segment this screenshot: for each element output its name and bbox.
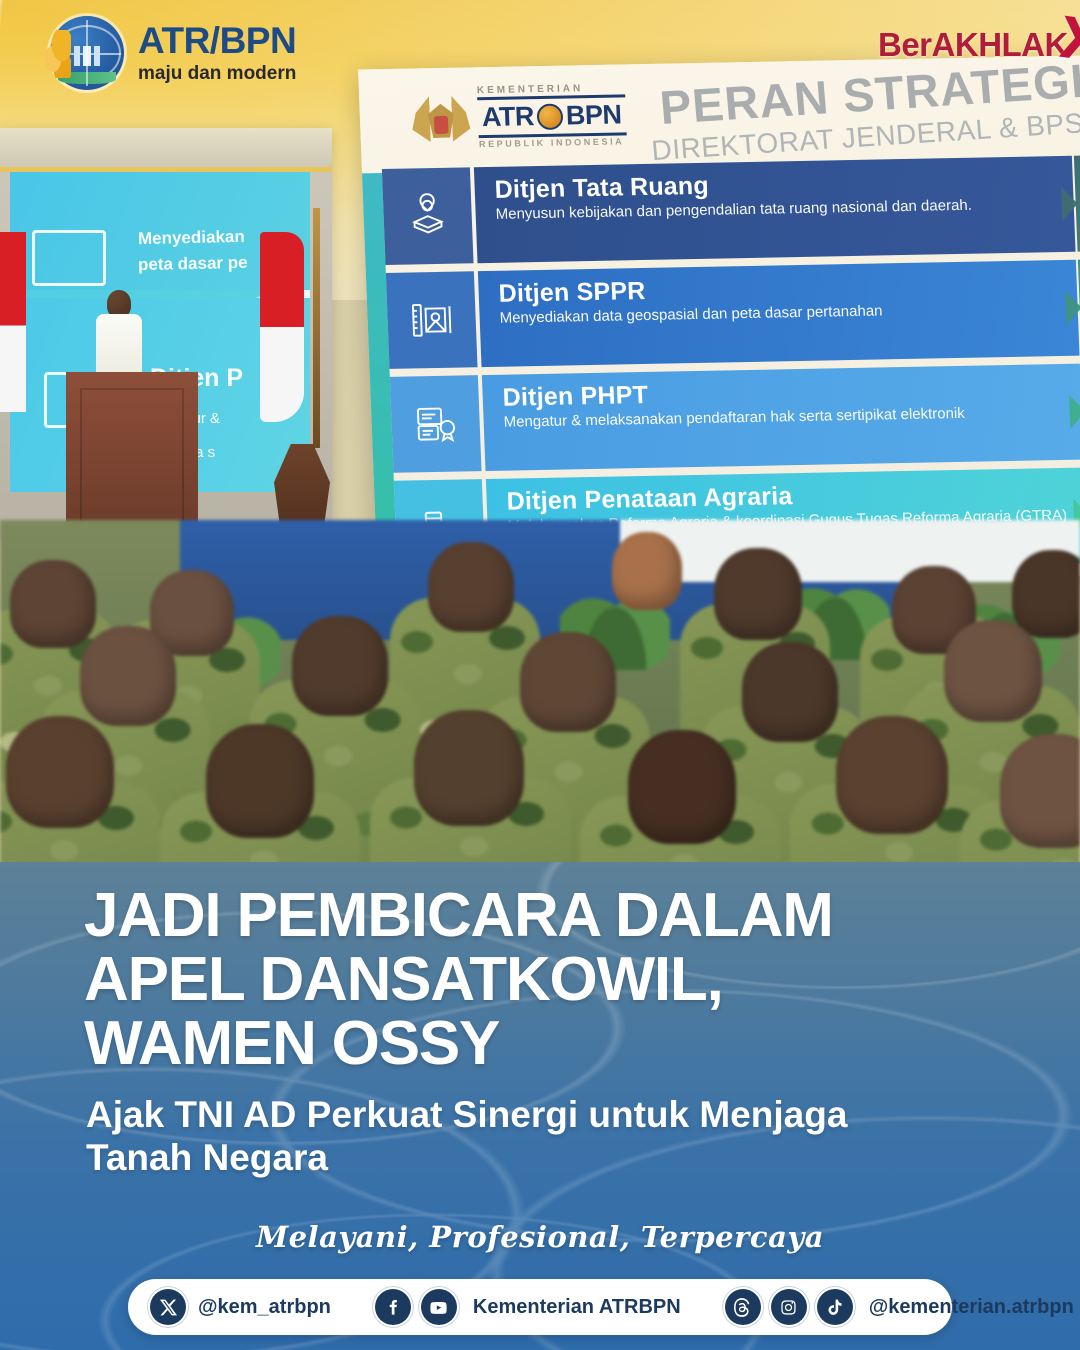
subheadline-line-1: Ajak TNI AD Perkuat Sinergi untuk Menjag… [86, 1094, 1026, 1137]
certificate-seal-icon [390, 375, 482, 473]
backdrop-row-text: Ditjen PHPT Mengatur & melaksanakan pend… [482, 364, 1080, 471]
inset-wall [0, 128, 332, 172]
backdrop-kementerian-label: KEMENTERIAN [477, 83, 584, 96]
instagram-handle-label[interactable]: @kementerian.atrbpn [869, 1296, 1074, 1319]
audience-member [6, 716, 114, 828]
audience-member [628, 730, 736, 844]
berakhlak-logo: BerAKHLAK ❯ [878, 26, 1068, 64]
headline-band: JADI PEMBICARA DALAM APEL DANSATKOWIL, W… [0, 862, 1080, 1350]
audience-member [1012, 550, 1080, 638]
inset-podium [66, 372, 198, 540]
social-fb-yt-group[interactable]: Kementerian ATRBPN [375, 1289, 681, 1325]
berakhlak-text: BerAKHLAK [878, 26, 1068, 63]
audience-member [206, 724, 314, 838]
ruler-map-measure-icon [386, 271, 478, 369]
audience-member [742, 642, 838, 742]
audience-member [1000, 734, 1080, 848]
backdrop-row: Ditjen PHPT Mengatur & melaksanakan pend… [390, 364, 1080, 473]
audience-member [10, 560, 96, 648]
backdrop-row: Ditjen Tata Ruang Menyusun kebijakan dan… [382, 156, 1076, 265]
backdrop-row-text: Ditjen SPPR Menyediakan data geospasial … [478, 260, 1080, 367]
subheadline-line-2: Tanah Negara [86, 1137, 1026, 1180]
audience-member [612, 532, 682, 610]
social-ig-group[interactable]: @kementerian.atrbpn [725, 1289, 1074, 1325]
audience-member [714, 548, 802, 640]
inset-speaker-figure [96, 290, 142, 380]
backdrop-bpn-text: BPN [565, 99, 622, 131]
facebook-youtube-label[interactable]: Kementerian ATRBPN [473, 1296, 681, 1319]
audience-member [292, 616, 388, 716]
stage-backdrop-board: KEMENTERIAN ATR BPN REPUBLIK INDONESIA P… [358, 55, 1080, 589]
backdrop-republik-label: REPUBLIK INDONESIA [479, 136, 625, 149]
inset-indonesian-flag [260, 232, 304, 422]
social-media-bar: @kem_atrbpn Kementerian ATRBPN @kementer… [128, 1279, 952, 1335]
headline-line-3: WAMEN OSSY [84, 1012, 1034, 1076]
backdrop-atr-text: ATR [481, 101, 534, 133]
audience-member [428, 542, 514, 632]
audience-member [836, 716, 948, 834]
inset-screen-line2: peta dasar pe [138, 253, 248, 275]
atrbpn-logo-tagline: maju dan modern [138, 63, 296, 85]
headline-line-1: JADI PEMBICARA DALAM [84, 884, 1034, 948]
youtube-icon[interactable] [421, 1289, 457, 1325]
tiktok-icon[interactable] [817, 1289, 853, 1325]
x-handle-label[interactable]: @kem_atrbpn [198, 1296, 331, 1319]
social-media-poster: KEMENTERIAN ATR BPN REPUBLIK INDONESIA P… [0, 0, 1080, 1350]
backdrop-globe-icon [536, 103, 563, 129]
atrbpn-logo: ATR/BPN maju dan modern [50, 16, 296, 90]
garuda-emblem-icon [411, 89, 472, 156]
backdrop-row: Ditjen SPPR Menyediakan data geospasial … [386, 260, 1080, 369]
facebook-icon[interactable] [375, 1289, 411, 1325]
motto-tagline: Melayani, Profesional, Terpercaya [0, 1220, 1080, 1254]
inset-flag-left [0, 232, 26, 412]
event-photograph: KEMENTERIAN ATR BPN REPUBLIK INDONESIA P… [0, 0, 1080, 866]
backdrop-atrbpn-lockup: ATR BPN [477, 94, 626, 138]
social-x-group[interactable]: @kem_atrbpn [150, 1289, 331, 1325]
padi-kapas-icon [41, 30, 71, 78]
x-twitter-icon[interactable] [150, 1289, 186, 1325]
audience-member [944, 620, 1042, 722]
inset-speaker-photo: Menyediakan peta dasar pe Ditjen P atur … [0, 128, 332, 540]
inset-measure-icon [32, 230, 106, 286]
map-pin-layer-icon [382, 167, 474, 265]
audience-crowd [0, 520, 1080, 866]
backdrop-row-text: Ditjen Tata Ruang Menyusun kebijakan dan… [474, 156, 1076, 263]
instagram-icon[interactable] [771, 1289, 807, 1325]
page-subtitle: Ajak TNI AD Perkuat Sinergi untuk Menjag… [86, 1094, 1026, 1180]
threads-icon[interactable] [725, 1289, 761, 1325]
audience-member [520, 632, 616, 732]
page-title: JADI PEMBICARA DALAM APEL DANSATKOWIL, W… [84, 884, 1034, 1076]
atrbpn-logo-text: ATR/BPN [138, 22, 296, 59]
atrbpn-globe-icon [50, 16, 124, 90]
headline-line-2: APEL DANSATKOWIL, [84, 948, 1034, 1012]
audience-member [80, 626, 176, 726]
inset-screen-line1: Menyediakan [138, 227, 245, 249]
audience-member [414, 710, 524, 826]
inset-flag-pole [313, 208, 320, 448]
